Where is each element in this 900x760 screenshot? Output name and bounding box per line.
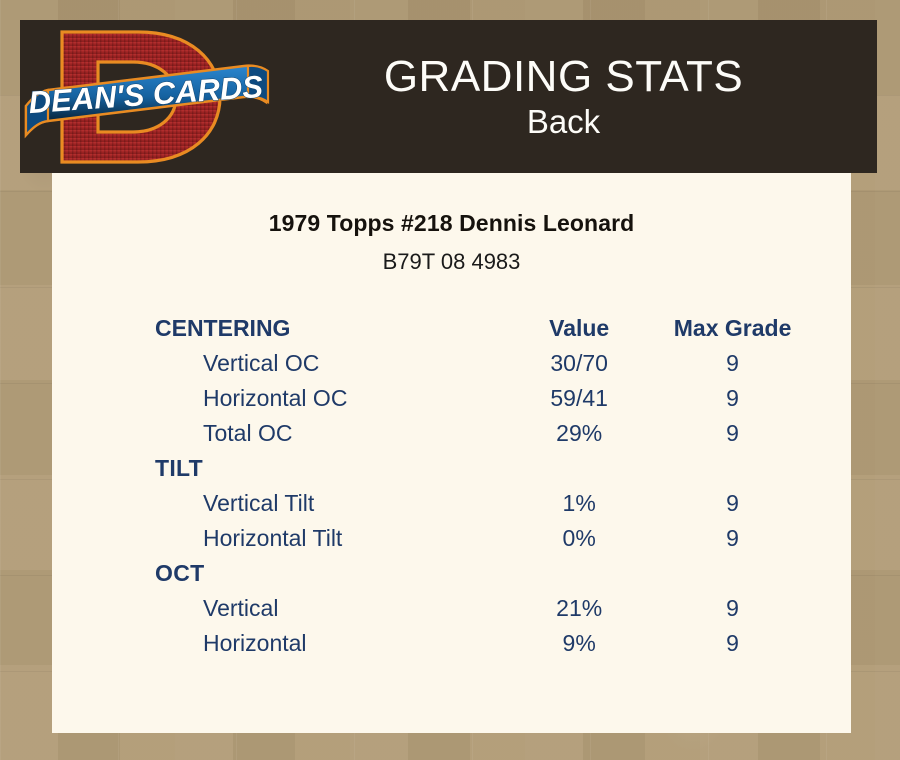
- page-title: GRADING STATS: [290, 52, 837, 102]
- stat-max-grade: 9: [660, 416, 805, 451]
- table-row: Vertical OC 30/70 9: [155, 346, 805, 381]
- stat-label: Horizontal: [155, 626, 498, 661]
- content-panel: 1979 Topps #218 Dennis Leonard B79T 08 4…: [52, 173, 851, 733]
- column-header-max-grade: Max Grade: [660, 311, 805, 346]
- section-spacer-value: [498, 451, 660, 486]
- stat-label: Horizontal OC: [155, 381, 498, 416]
- section-name: OCT: [155, 556, 498, 591]
- section-spacer-grade: [660, 556, 805, 591]
- column-header-value: Value: [498, 311, 660, 346]
- table-row: Horizontal 9% 9: [155, 626, 805, 661]
- stat-value: 9%: [498, 626, 660, 661]
- grading-stats-table: CENTERING Value Max Grade Vertical OC 30…: [155, 311, 805, 661]
- stat-max-grade: 9: [660, 591, 805, 626]
- table-header-row: CENTERING Value Max Grade: [155, 311, 805, 346]
- table-row: Vertical Tilt 1% 9: [155, 486, 805, 521]
- stat-label: Vertical OC: [155, 346, 498, 381]
- table-row: Horizontal OC 59/41 9: [155, 381, 805, 416]
- section-name: TILT: [155, 451, 498, 486]
- stat-max-grade: 9: [660, 521, 805, 556]
- header-titles: GRADING STATS Back: [290, 52, 877, 142]
- section-header-tilt: TILT: [155, 451, 805, 486]
- stat-value: 29%: [498, 416, 660, 451]
- table-row: Vertical 21% 9: [155, 591, 805, 626]
- column-header-centering: CENTERING: [155, 311, 498, 346]
- stat-max-grade: 9: [660, 626, 805, 661]
- stat-label: Vertical: [155, 591, 498, 626]
- stat-value: 21%: [498, 591, 660, 626]
- section-spacer-grade: [660, 451, 805, 486]
- deans-cards-logo[interactable]: DEAN'S CARDS: [20, 22, 290, 172]
- stat-value: 59/41: [498, 381, 660, 416]
- table-row: Horizontal Tilt 0% 9: [155, 521, 805, 556]
- stat-max-grade: 9: [660, 381, 805, 416]
- stat-max-grade: 9: [660, 486, 805, 521]
- card-serial-number: B79T 08 4983: [52, 249, 851, 275]
- stat-value: 30/70: [498, 346, 660, 381]
- card-title: 1979 Topps #218 Dennis Leonard: [52, 210, 851, 237]
- stat-label: Horizontal Tilt: [155, 521, 498, 556]
- header-bar: DEAN'S CARDS GRADING STATS Back: [20, 20, 877, 173]
- stat-value: 1%: [498, 486, 660, 521]
- section-header-oct: OCT: [155, 556, 805, 591]
- stat-label: Total OC: [155, 416, 498, 451]
- page-subtitle: Back: [290, 102, 837, 142]
- table-row: Total OC 29% 9: [155, 416, 805, 451]
- stat-value: 0%: [498, 521, 660, 556]
- logo-graphic: DEAN'S CARDS: [20, 22, 290, 172]
- stat-label: Vertical Tilt: [155, 486, 498, 521]
- section-spacer-value: [498, 556, 660, 591]
- stat-max-grade: 9: [660, 346, 805, 381]
